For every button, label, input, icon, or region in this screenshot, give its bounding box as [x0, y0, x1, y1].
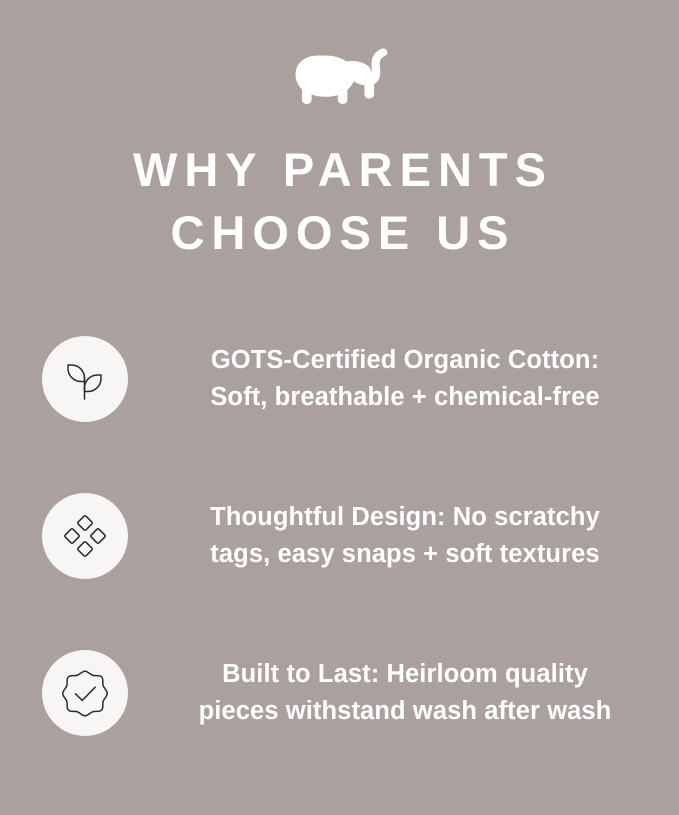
- page-title: WHY PARENTS CHOOSE US: [0, 138, 679, 264]
- feature-list: GOTS-Certified Organic Cotton: Soft, bre…: [0, 300, 679, 771]
- feature-text-line-1: Built to Last: Heirloom quality: [150, 656, 660, 693]
- feature-text-line-2: tags, easy snaps + soft textures: [150, 536, 660, 573]
- feature-text-line-1: Thoughtful Design: No scratchy: [150, 499, 660, 536]
- feature-text: GOTS-Certified Organic Cotton: Soft, bre…: [150, 342, 660, 416]
- brand-logo: [0, 36, 679, 108]
- feature-text: Built to Last: Heirloom quality pieces w…: [150, 656, 660, 730]
- feature-item-organic-cotton: GOTS-Certified Organic Cotton: Soft, bre…: [0, 300, 679, 457]
- four-diamonds-icon: [62, 513, 108, 559]
- sprout-leaf-icon: [62, 356, 108, 402]
- feature-icon-circle: [42, 650, 128, 736]
- feature-text: Thoughtful Design: No scratchy tags, eas…: [150, 499, 660, 573]
- page-title-line-2: CHOOSE US: [0, 201, 679, 264]
- feature-icon-circle: [42, 336, 128, 422]
- feature-text-line-2: Soft, breathable + chemical-free: [150, 379, 660, 416]
- elephant-icon: [288, 39, 392, 105]
- badge-check-icon: [60, 668, 110, 718]
- feature-text-line-1: GOTS-Certified Organic Cotton:: [150, 342, 660, 379]
- page-title-line-1: WHY PARENTS: [0, 138, 679, 201]
- feature-icon-circle: [42, 493, 128, 579]
- feature-item-thoughtful-design: Thoughtful Design: No scratchy tags, eas…: [0, 457, 679, 614]
- why-parents-choose-us-panel: WHY PARENTS CHOOSE US GOTS-Certifie: [0, 0, 679, 815]
- feature-text-line-2: pieces withstand wash after wash: [150, 693, 660, 730]
- feature-item-built-to-last: Built to Last: Heirloom quality pieces w…: [0, 614, 679, 771]
